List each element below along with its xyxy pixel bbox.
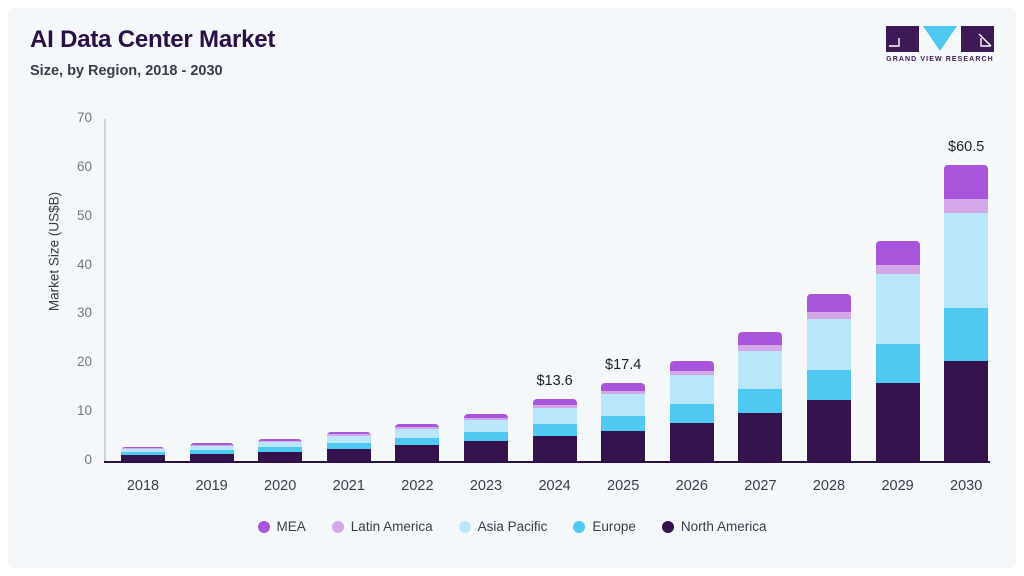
x-tick-2024: 2024 (520, 478, 590, 494)
bar-segment-north-america (601, 431, 645, 461)
bar-segment-asia-pacific (327, 436, 371, 443)
bar-segment-asia-pacific (738, 351, 782, 389)
bar-segment-asia-pacific (670, 375, 714, 404)
legend-item-label: North America (681, 519, 767, 534)
y-tick-70: 70 (52, 110, 92, 125)
bar-segment-mea (601, 383, 645, 391)
bar-segment-europe (876, 344, 920, 383)
bar-2018[interactable] (121, 447, 165, 461)
bar-segment-europe (533, 424, 577, 436)
bar-segment-asia-pacific (601, 394, 645, 416)
screenshot-root: AI Data Center Market Size, by Region, 2… (0, 0, 1024, 576)
bar-segment-mea (807, 294, 851, 312)
legend-swatch-icon (459, 521, 471, 533)
x-tick-2020: 2020 (245, 478, 315, 494)
bar-segment-north-america (464, 441, 508, 461)
legend-swatch-icon (258, 521, 270, 533)
y-tick-20: 20 (52, 354, 92, 369)
bar-2024[interactable] (533, 399, 577, 461)
bar-2021[interactable] (327, 432, 371, 461)
y-tick-0: 0 (52, 452, 92, 467)
chart-plot-area: Market Size (US$B) 010203040506070 20182… (8, 8, 1016, 568)
legend-swatch-icon (332, 521, 344, 533)
legend-item-europe[interactable]: Europe (573, 519, 636, 534)
y-tick-10: 10 (52, 403, 92, 418)
bar-segment-asia-pacific (876, 274, 920, 343)
x-axis-line (104, 461, 990, 463)
bar-2022[interactable] (395, 424, 439, 461)
bar-segment-north-america (327, 449, 371, 461)
bar-2029[interactable] (876, 241, 920, 461)
bar-segment-asia-pacific (533, 408, 577, 425)
bar-segment-north-america (876, 383, 920, 461)
bar-segment-asia-pacific (464, 420, 508, 432)
bar-2023[interactable] (464, 414, 508, 461)
bar-segment-north-america (395, 445, 439, 461)
legend-item-label: Asia Pacific (478, 519, 548, 534)
bar-segment-mea (944, 165, 988, 199)
bar-segment-north-america (807, 400, 851, 461)
bar-segment-mea (670, 361, 714, 371)
data-label-2024: $13.6 (510, 373, 600, 389)
bar-segment-north-america (944, 361, 988, 461)
x-tick-2027: 2027 (725, 478, 795, 494)
legend-item-label: MEA (277, 519, 306, 534)
legend-swatch-icon (573, 521, 585, 533)
chart-legend: MEALatin AmericaAsia PacificEuropeNorth … (8, 519, 1016, 534)
bar-segment-north-america (670, 423, 714, 461)
legend-swatch-icon (662, 521, 674, 533)
x-tick-2021: 2021 (314, 478, 384, 494)
bar-segment-mea (876, 241, 920, 264)
bar-segment-north-america (533, 436, 577, 461)
x-tick-2019: 2019 (177, 478, 247, 494)
x-tick-2028: 2028 (794, 478, 864, 494)
bar-segment-mea (738, 332, 782, 345)
bar-segment-europe (807, 370, 851, 400)
x-tick-2030: 2030 (931, 478, 1001, 494)
x-tick-2022: 2022 (382, 478, 452, 494)
legend-item-label: Latin America (351, 519, 433, 534)
bar-segment-europe (944, 308, 988, 361)
bar-2026[interactable] (670, 361, 714, 461)
bar-2030[interactable] (944, 165, 988, 461)
bar-segment-latin-america (876, 265, 920, 275)
y-tick-30: 30 (52, 305, 92, 320)
y-axis-line (104, 119, 106, 461)
bar-segment-north-america (190, 454, 234, 461)
legend-item-mea[interactable]: MEA (258, 519, 306, 534)
bar-segment-europe (738, 389, 782, 412)
bar-segment-latin-america (807, 312, 851, 319)
bar-2027[interactable] (738, 332, 782, 461)
bar-segment-latin-america (944, 199, 988, 213)
x-tick-2029: 2029 (863, 478, 933, 494)
bar-2025[interactable] (601, 383, 645, 461)
bar-segment-europe (395, 438, 439, 445)
bar-segment-europe (464, 432, 508, 441)
x-tick-2023: 2023 (451, 478, 521, 494)
bar-2020[interactable] (258, 439, 302, 461)
bar-segment-north-america (121, 455, 165, 461)
data-label-2025: $17.4 (578, 357, 668, 373)
bar-segment-europe (670, 404, 714, 423)
legend-item-latin-america[interactable]: Latin America (332, 519, 433, 534)
x-tick-2026: 2026 (657, 478, 727, 494)
bar-segment-europe (601, 416, 645, 431)
bar-2019[interactable] (190, 443, 234, 461)
x-tick-2025: 2025 (588, 478, 658, 494)
bar-segment-asia-pacific (807, 319, 851, 370)
legend-item-asia-pacific[interactable]: Asia Pacific (459, 519, 548, 534)
y-tick-40: 40 (52, 257, 92, 272)
legend-item-north-america[interactable]: North America (662, 519, 767, 534)
y-tick-60: 60 (52, 159, 92, 174)
bar-2028[interactable] (807, 294, 851, 461)
bar-segment-north-america (738, 413, 782, 461)
y-tick-50: 50 (52, 208, 92, 223)
x-tick-2018: 2018 (108, 478, 178, 494)
bar-segment-north-america (258, 452, 302, 461)
chart-card: AI Data Center Market Size, by Region, 2… (8, 8, 1016, 568)
bar-segment-asia-pacific (944, 213, 988, 308)
data-label-2030: $60.5 (921, 139, 1011, 155)
legend-item-label: Europe (592, 519, 636, 534)
bar-segment-asia-pacific (395, 429, 439, 438)
